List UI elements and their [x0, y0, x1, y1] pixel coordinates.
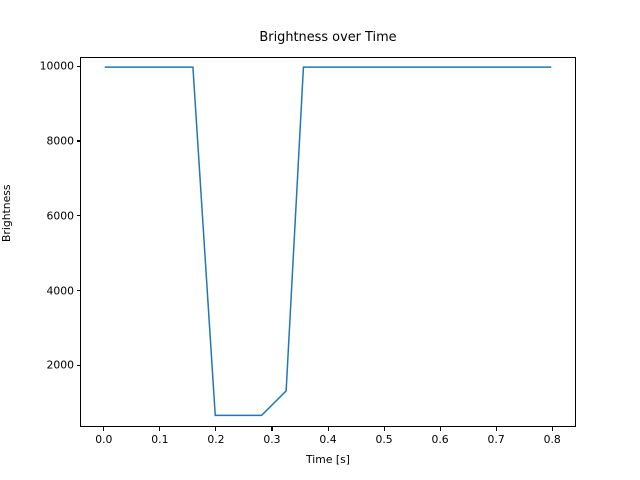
y-tick-label: 10000 — [40, 60, 74, 73]
x-tick-label: 0.3 — [263, 433, 280, 446]
x-tick-label: 0.6 — [431, 433, 448, 446]
x-axis-label: Time [s] — [80, 453, 576, 466]
x-tick-mark — [103, 427, 104, 431]
x-tick-mark — [215, 427, 216, 431]
y-tick-mark — [77, 66, 81, 67]
x-tick-mark — [328, 427, 329, 431]
y-axis-label: Brightness — [0, 184, 13, 242]
x-tick-mark — [271, 427, 272, 431]
y-tick-label: 2000 — [47, 359, 74, 372]
y-tick-mark — [77, 290, 81, 291]
y-tick-label: 6000 — [47, 209, 74, 222]
data-line-series — [81, 58, 575, 426]
x-tick-label: 0.7 — [488, 433, 505, 446]
x-tick-mark — [159, 427, 160, 431]
x-tick-mark — [552, 427, 553, 431]
figure-canvas: Brightness over Time Brightness Time [s]… — [0, 0, 640, 480]
y-tick-label: 8000 — [47, 134, 74, 147]
plot-area — [80, 57, 576, 427]
x-tick-label: 0.1 — [151, 433, 168, 446]
y-tick-mark — [77, 365, 81, 366]
x-tick-mark — [496, 427, 497, 431]
series-brightness-polyline — [105, 67, 552, 415]
x-tick-label: 0.4 — [319, 433, 336, 446]
x-tick-label: 0.5 — [375, 433, 392, 446]
y-tick-mark — [77, 215, 81, 216]
page-title: Brightness over Time — [80, 30, 576, 45]
x-tick-mark — [440, 427, 441, 431]
x-tick-label: 0.2 — [207, 433, 224, 446]
x-tick-label: 0.0 — [95, 433, 112, 446]
x-tick-label: 0.8 — [544, 433, 561, 446]
x-tick-mark — [384, 427, 385, 431]
y-tick-label: 4000 — [47, 284, 74, 297]
y-tick-mark — [77, 140, 81, 141]
